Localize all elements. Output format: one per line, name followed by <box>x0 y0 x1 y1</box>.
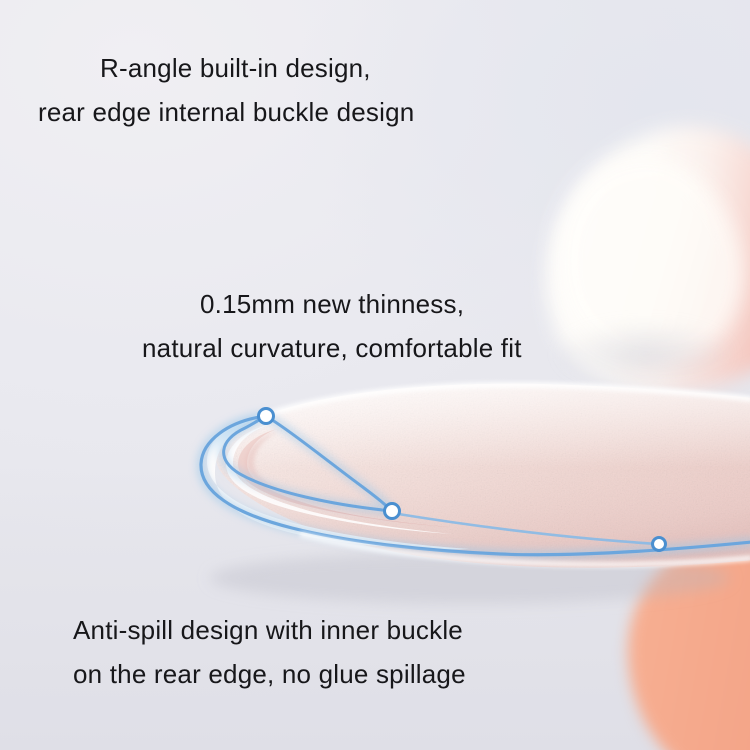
marker-rear-edge <box>653 538 666 551</box>
callout-top-line1: R-angle built-in design, <box>100 46 414 90</box>
marker-curl-top <box>259 409 274 424</box>
callout-top: R-angle built-in design, rear edge inter… <box>100 46 414 134</box>
callout-bottom-line1: Anti-spill design with inner buckle <box>73 608 466 652</box>
product-feature-image: R-angle built-in design, rear edge inter… <box>0 0 750 750</box>
callout-middle-line1: 0.15mm new thinness, <box>200 282 522 326</box>
callout-middle: 0.15mm new thinness, natural curvature, … <box>200 282 522 370</box>
callout-bottom: Anti-spill design with inner buckle on t… <box>73 608 466 696</box>
marker-curl-inner <box>385 504 400 519</box>
callout-top-line2: rear edge internal buckle design <box>38 90 414 134</box>
callout-middle-line2: natural curvature, comfortable fit <box>142 326 522 370</box>
callout-bottom-line2: on the rear edge, no glue spillage <box>73 652 466 696</box>
